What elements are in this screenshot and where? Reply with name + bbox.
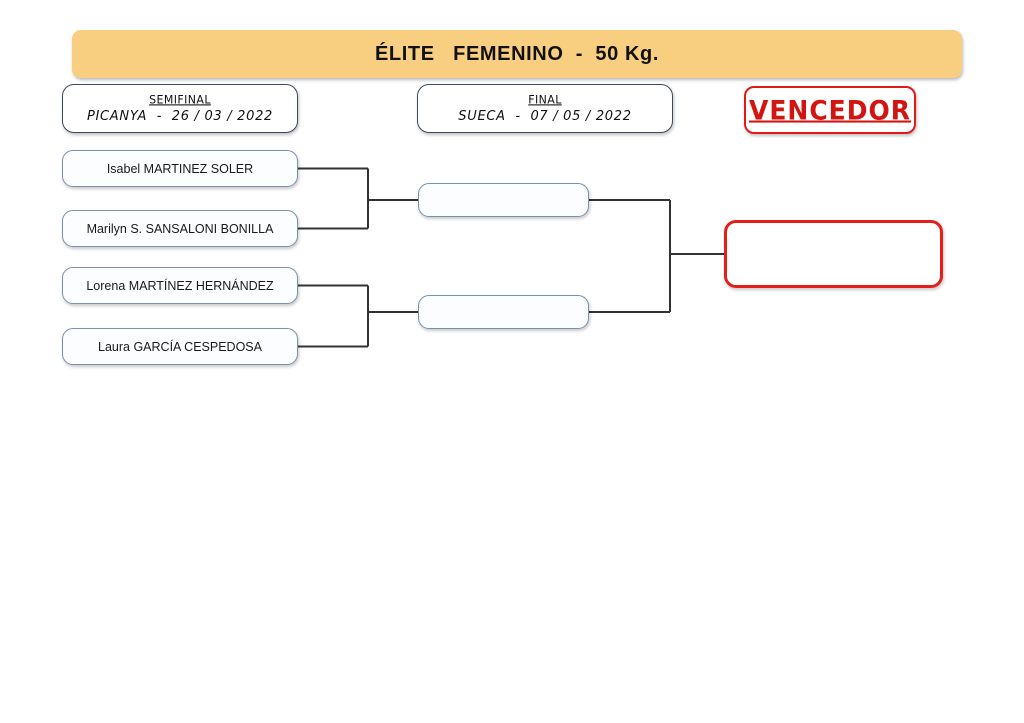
competitor-name: Laura GARCÍA CESPEDOSA	[98, 340, 262, 354]
semifinal-round-header: SEMIFINAL PICANYA - 26 / 03 / 2022	[62, 84, 298, 133]
winner-header-box: VENCEDOR	[744, 86, 916, 134]
title-banner: ÉLITE FEMENINO - 50 Kg.	[72, 30, 962, 78]
semifinal-winner-slot[interactable]	[418, 295, 589, 329]
tournament-bracket-page: ÉLITE FEMENINO - 50 Kg. SEMIFINAL PICANY…	[0, 0, 1024, 723]
winner-header-label: VENCEDOR	[749, 95, 911, 125]
competitor-name: Marilyn S. SANSALONI BONILLA	[87, 222, 274, 236]
semifinal-venue-date: PICANYA - 26 / 03 / 2022	[87, 109, 273, 124]
final-round-header: FINAL SUECA - 07 / 05 / 2022	[417, 84, 673, 133]
final-venue-date: SUECA - 07 / 05 / 2022	[458, 109, 631, 124]
page-title: ÉLITE FEMENINO - 50 Kg.	[72, 30, 962, 78]
champion-slot[interactable]	[724, 220, 943, 288]
competitor-slot[interactable]: Marilyn S. SANSALONI BONILLA	[62, 210, 298, 247]
competitor-slot[interactable]: Isabel MARTINEZ SOLER	[62, 150, 298, 187]
competitor-name: Isabel MARTINEZ SOLER	[107, 162, 253, 176]
semifinal-winner-slot[interactable]	[418, 183, 589, 217]
competitor-slot[interactable]: Laura GARCÍA CESPEDOSA	[62, 328, 298, 365]
semifinal-round-title: SEMIFINAL	[149, 92, 211, 106]
competitor-name: Lorena MARTÍNEZ HERNÁNDEZ	[86, 279, 273, 293]
final-round-title: FINAL	[528, 92, 561, 106]
competitor-slot[interactable]: Lorena MARTÍNEZ HERNÁNDEZ	[62, 267, 298, 304]
